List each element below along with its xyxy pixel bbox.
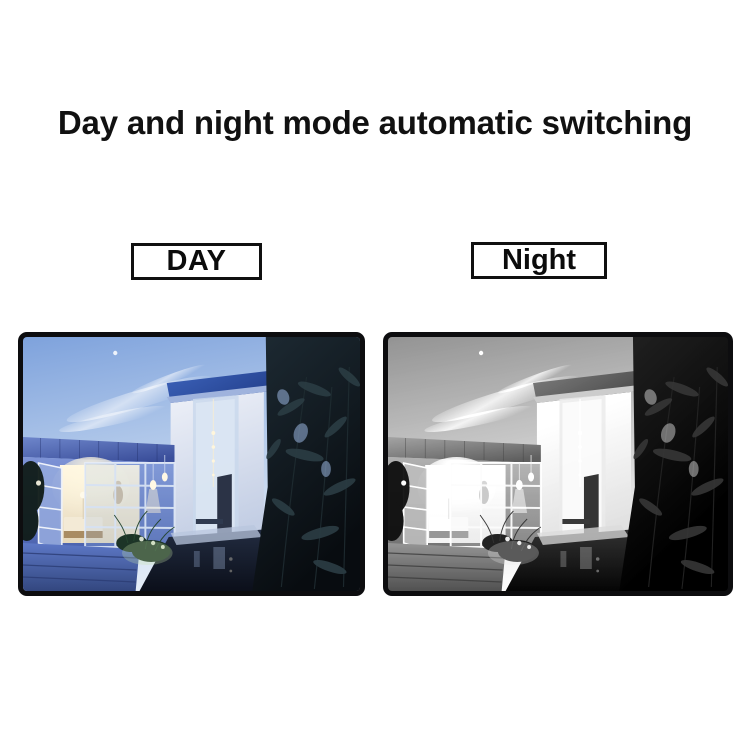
page-title: Day and night mode automatic switching <box>0 104 750 142</box>
photo-frame-night <box>383 332 733 596</box>
mode-label-day: DAY <box>131 243 262 280</box>
mode-label-day-text: DAY <box>166 247 226 276</box>
mode-label-night: Night <box>471 242 607 279</box>
night-photo-image <box>388 337 728 591</box>
photo-frame-day <box>18 332 365 596</box>
day-photo-image <box>23 337 360 591</box>
mode-label-night-text: Night <box>502 246 576 275</box>
